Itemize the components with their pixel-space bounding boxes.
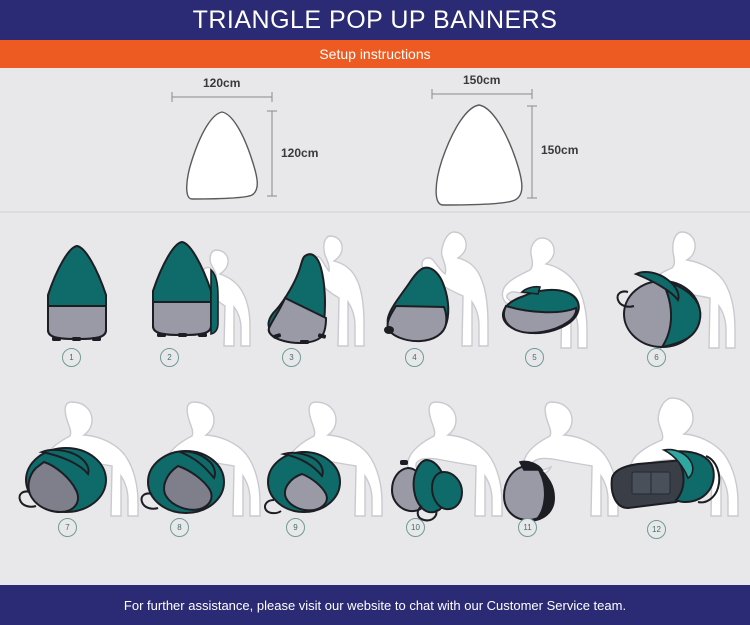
subtitle-label: Setup instructions [319, 46, 430, 62]
step-7-illustration [14, 394, 154, 526]
large-banner-width-label: 150cm [463, 73, 500, 87]
step-9-illustration [254, 394, 394, 526]
footer-bar: For further assistance, please visit our… [0, 585, 750, 625]
footer-message: For further assistance, please visit our… [124, 598, 626, 613]
page-title: TRIANGLE POP UP BANNERS [193, 6, 558, 35]
dimensions-panel: 120cm 120cm 150cm 150cm [0, 68, 750, 212]
step-badge: 6 [647, 348, 666, 367]
large-banner-height-label: 150cm [541, 143, 578, 157]
dimensions-svg [0, 68, 750, 212]
step-badge: 1 [62, 348, 81, 367]
step-2-illustration [130, 230, 260, 358]
step-badge: 8 [170, 518, 189, 537]
step-badge: 2 [160, 348, 179, 367]
step-badge: 7 [58, 518, 77, 537]
step-badge: 3 [282, 348, 301, 367]
step-4-illustration [372, 224, 502, 358]
steps-panel: 1 2 3 [0, 214, 750, 585]
title-bar: TRIANGLE POP UP BANNERS [0, 0, 750, 40]
step-5-illustration [492, 226, 622, 358]
step-badge: 10 [406, 518, 425, 537]
small-banner-diagram [172, 92, 277, 199]
step-3-illustration [252, 226, 382, 358]
section-divider [0, 211, 750, 213]
step-badge: 4 [405, 348, 424, 367]
step-6-illustration [606, 222, 746, 358]
small-banner-width-label: 120cm [203, 76, 240, 90]
small-banner-height-label: 120cm [281, 146, 318, 160]
step-badge: 11 [518, 518, 537, 537]
large-banner-diagram [432, 89, 537, 205]
step-8-illustration [134, 394, 274, 526]
step-badge: 9 [286, 518, 305, 537]
step-badge: 12 [647, 520, 666, 539]
step-1-illustration [22, 238, 132, 358]
step-12-illustration [598, 390, 748, 526]
instruction-sheet: TRIANGLE POP UP BANNERS Setup instructio… [0, 0, 750, 625]
step-badge: 5 [525, 348, 544, 367]
subtitle-bar: Setup instructions [0, 40, 750, 68]
